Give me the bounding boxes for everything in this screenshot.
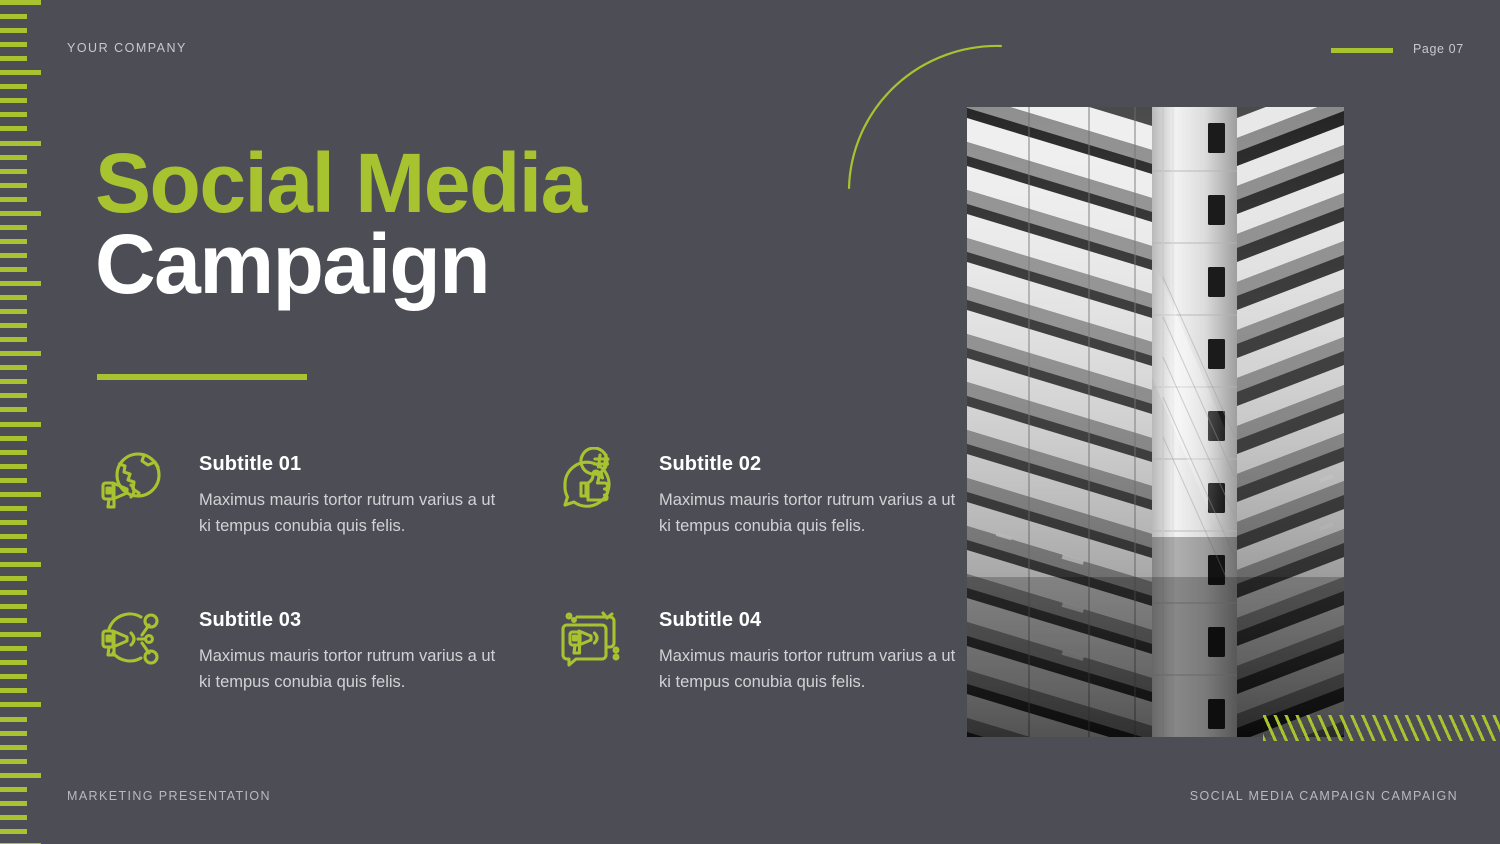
title-underline-decoration (97, 374, 307, 380)
feature-body-1: Maximus mauris tortor rutrum varius a ut… (199, 487, 509, 539)
ruler-tick (0, 197, 27, 202)
ruler-tick (0, 141, 41, 146)
ruler-tick (0, 169, 27, 174)
ruler-tick (0, 660, 27, 665)
ruler-tick (0, 534, 27, 539)
ruler-tick (0, 393, 27, 398)
thumbs-up-hashtag-bubble-icon (557, 447, 625, 515)
feature-text-3: Subtitle 03 Maximus mauris tortor rutrum… (199, 599, 509, 695)
ruler-tick (0, 42, 27, 47)
ruler-tick (0, 464, 27, 469)
ruler-tick (0, 365, 27, 370)
ruler-tick (0, 436, 27, 441)
ruler-tick (0, 309, 27, 314)
ruler-tick (0, 351, 41, 356)
hatch-stripes-decoration (1263, 715, 1500, 741)
title-line-2: Campaign (95, 224, 586, 305)
ruler-tick (0, 98, 27, 103)
feature-body-2: Maximus mauris tortor rutrum varius a ut… (659, 487, 969, 539)
ruler-tick (0, 506, 27, 511)
ruler-tick (0, 688, 27, 693)
megaphone-network-icon (97, 603, 165, 671)
ruler-tick (0, 632, 41, 637)
feature-list: Subtitle 01 Maximus mauris tortor rutrum… (97, 443, 977, 695)
ruler-tick (0, 759, 27, 764)
ruler-tick (0, 295, 27, 300)
footer-right-label: SOCIAL MEDIA CAMPAIGN CAMPAIGN (1190, 789, 1458, 803)
ruler-tick (0, 407, 27, 412)
ruler-tick (0, 576, 27, 581)
ruler-tick (0, 520, 27, 525)
ruler-tick (0, 801, 27, 806)
ruler-tick (0, 379, 27, 384)
ruler-tick (0, 548, 27, 553)
ruler-tick (0, 618, 27, 623)
ruler-tick (0, 14, 27, 19)
ruler-tick (0, 829, 27, 834)
ruler-tick (0, 787, 27, 792)
ruler-tick (0, 253, 27, 258)
ruler-tick (0, 745, 27, 750)
ruler-tick (0, 323, 27, 328)
megaphone-globe-icon (97, 447, 165, 515)
ruler-tick (0, 28, 27, 33)
ruler-tick (0, 815, 27, 820)
feature-item-1: Subtitle 01 Maximus mauris tortor rutrum… (97, 443, 557, 599)
feature-title-4: Subtitle 04 (659, 609, 969, 632)
megaphone-chat-bubbles-icon (557, 603, 625, 671)
ruler-tick (0, 225, 27, 230)
ruler-tick (0, 183, 27, 188)
ruler-tick (0, 70, 41, 75)
ruler-tick (0, 450, 27, 455)
feature-item-4: Subtitle 04 Maximus mauris tortor rutrum… (557, 599, 977, 695)
ruler-tick (0, 84, 27, 89)
feature-title-2: Subtitle 02 (659, 453, 969, 476)
ruler-tick (0, 717, 27, 722)
ruler-tick (0, 155, 27, 160)
page-number: Page 07 (1413, 42, 1464, 56)
feature-text-4: Subtitle 04 Maximus mauris tortor rutrum… (659, 599, 969, 695)
ruler-tick (0, 702, 41, 707)
ruler-tick (0, 604, 27, 609)
ruler-tick (0, 773, 41, 778)
ruler-tick (0, 422, 41, 427)
feature-text-2: Subtitle 02 Maximus mauris tortor rutrum… (659, 443, 969, 539)
ruler-tick (0, 478, 27, 483)
ruler-decoration (0, 0, 46, 844)
feature-body-4: Maximus mauris tortor rutrum varius a ut… (659, 643, 969, 695)
ruler-tick (0, 239, 27, 244)
title-line-1: Social Media (95, 143, 586, 224)
building-photo (967, 107, 1344, 737)
ruler-tick (0, 0, 41, 5)
ruler-tick (0, 646, 27, 651)
ruler-tick (0, 56, 27, 61)
ruler-tick (0, 492, 41, 497)
ruler-tick (0, 126, 27, 131)
feature-title-1: Subtitle 01 (199, 453, 509, 476)
feature-item-2: Subtitle 02 Maximus mauris tortor rutrum… (557, 443, 977, 599)
ruler-tick (0, 337, 27, 342)
feature-item-3: Subtitle 03 Maximus mauris tortor rutrum… (97, 599, 557, 695)
ruler-tick (0, 562, 41, 567)
feature-title-3: Subtitle 03 (199, 609, 509, 632)
ruler-tick (0, 674, 27, 679)
footer-left-label: MARKETING PRESENTATION (67, 789, 271, 803)
ruler-tick (0, 281, 41, 286)
company-label: YOUR COMPANY (67, 41, 187, 55)
feature-text-1: Subtitle 01 Maximus mauris tortor rutrum… (199, 443, 509, 539)
ruler-tick (0, 112, 27, 117)
ruler-tick (0, 731, 27, 736)
ruler-tick (0, 590, 27, 595)
feature-body-3: Maximus mauris tortor rutrum varius a ut… (199, 643, 509, 695)
page-title: Social Media Campaign (95, 143, 586, 306)
presentation-slide: YOUR COMPANY Page 07 Social Media Campai… (0, 0, 1500, 844)
ruler-tick (0, 211, 41, 216)
ruler-tick (0, 267, 27, 272)
page-dash-decoration (1331, 48, 1393, 53)
